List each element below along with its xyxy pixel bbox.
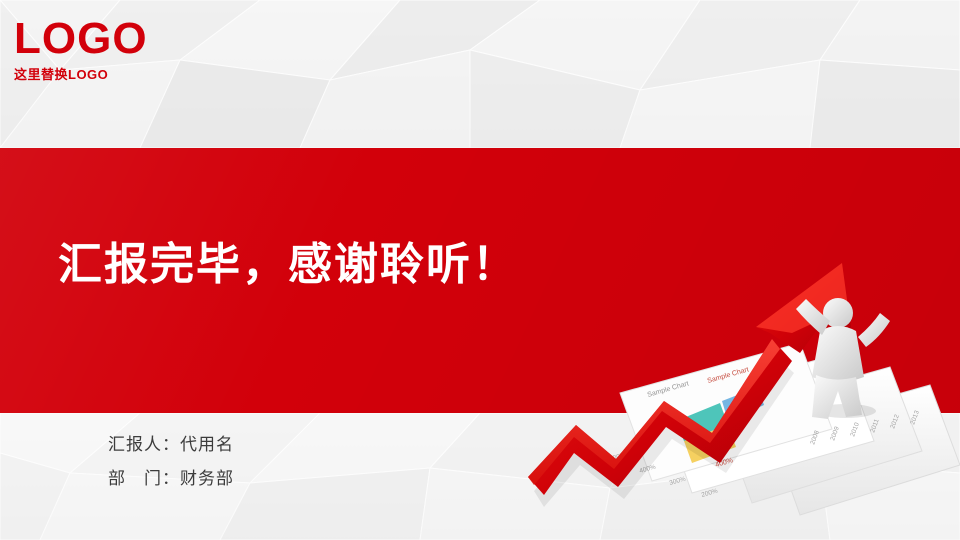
svg-text:300%: 300% <box>669 476 687 487</box>
presenter-line: 汇报人：代用名 <box>108 428 234 462</box>
footer-meta: 汇报人：代用名 部 门：财务部 <box>108 428 234 496</box>
department-line: 部 门：财务部 <box>108 462 234 496</box>
page-title: 汇报完毕，感谢聆听！ <box>58 228 518 292</box>
slide-canvas: LOGO 这里替换LOGO 汇报完毕，感谢聆听！ 汇报人：代用名 部 门：财务部 <box>0 0 960 540</box>
growth-arrow-illustration: Sample Chart Sample Chart 500% 400% 500%… <box>470 215 960 540</box>
logo: LOGO 这里替换LOGO <box>14 16 148 83</box>
logo-subtext: 这里替换LOGO <box>14 64 148 83</box>
logo-text: LOGO <box>14 16 148 62</box>
